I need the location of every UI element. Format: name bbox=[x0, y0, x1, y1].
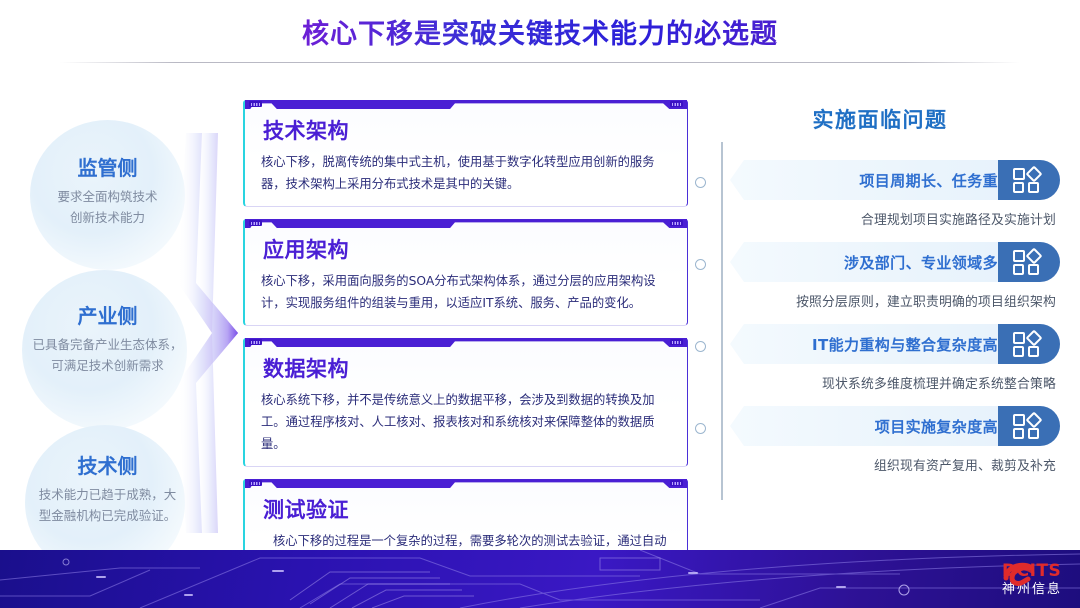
issues-timeline: 项目周期长、任务重 合理规划项目实施路径及实施计划 涉及部门、专业领域多 按照分… bbox=[700, 160, 1060, 474]
architecture-card-list: 技术架构 核心下移，脱离传统的集中式主机，使用基于数字化转型应用创新的服务器，技… bbox=[243, 100, 688, 598]
grid-diamond-icon bbox=[998, 160, 1060, 200]
card-tech-architecture[interactable]: 技术架构 核心下移，脱离传统的集中式主机，使用基于数字化转型应用创新的服务器，技… bbox=[243, 100, 688, 207]
timeline-item-2[interactable]: 涉及部门、专业领域多 按照分层原则，建立职责明确的项目组织架构 bbox=[722, 242, 1060, 310]
issue-label: IT能力重构与整合复杂度高 bbox=[812, 334, 998, 355]
card-heading: 数据架构 bbox=[263, 353, 671, 383]
issue-pill[interactable]: IT能力重构与整合复杂度高 bbox=[730, 324, 1060, 364]
timeline-item-1[interactable]: 项目周期长、任务重 合理规划项目实施路径及实施计划 bbox=[722, 160, 1060, 228]
card-top-bar bbox=[245, 479, 687, 488]
right-panel-title: 实施面临问题 bbox=[700, 104, 1060, 134]
timeline-dot-icon bbox=[695, 341, 706, 352]
issue-label: 项目实施复杂度高 bbox=[875, 416, 998, 437]
card-frame: 技术架构 核心下移，脱离传统的集中式主机，使用基于数字化转型应用创新的服务器，技… bbox=[243, 100, 688, 207]
page-title: 核心下移是突破关键技术能力的必选题 bbox=[302, 12, 778, 51]
card-notch-left-icon bbox=[249, 220, 262, 226]
card-frame: 应用架构 核心下移，采用面向服务的SOA分布式架构体系，通过分层的应用架构设计，… bbox=[243, 219, 688, 326]
company-logo: DCITS 神州信息 bbox=[1002, 558, 1062, 600]
card-notch-right-icon bbox=[670, 220, 683, 226]
grid-diamond-icon bbox=[998, 406, 1060, 446]
issue-label: 涉及部门、专业领域多 bbox=[844, 252, 998, 273]
timeline-item-4[interactable]: 项目实施复杂度高 组织现有资产复用、裁剪及补充 bbox=[722, 406, 1060, 474]
issue-subtext: 现状系统多维度梳理并确定系统整合策略 bbox=[722, 373, 1060, 392]
timeline-dot-icon bbox=[695, 259, 706, 270]
card-notch-left-icon bbox=[249, 480, 262, 486]
card-notch-left-icon bbox=[249, 101, 262, 107]
card-body: 核心下移，脱离传统的集中式主机，使用基于数字化转型应用创新的服务器，技术架构上采… bbox=[261, 151, 671, 195]
dcits-swirl-icon bbox=[1002, 558, 1036, 588]
card-heading: 应用架构 bbox=[263, 234, 671, 264]
issue-label: 项目周期长、任务重 bbox=[859, 170, 998, 191]
implementation-issues-panel: 实施面临问题 项目周期长、任务重 合理规划项目实施路径及实施计划 涉及部门、专业… bbox=[700, 104, 1060, 488]
grid-diamond-icon bbox=[998, 324, 1060, 364]
card-top-bar bbox=[245, 219, 687, 228]
title-divider bbox=[60, 62, 1020, 63]
card-body: 核心下移，采用面向服务的SOA分布式架构体系，通过分层的应用架构设计，实现服务组… bbox=[261, 270, 671, 314]
issue-pill[interactable]: 项目周期长、任务重 bbox=[730, 160, 1060, 200]
card-body: 核心系统下移，并不是传统意义上的数据平移，会涉及到数据的转换及加工。通过程序核对… bbox=[261, 389, 671, 455]
card-top-bar bbox=[245, 100, 687, 109]
timeline-dot-icon bbox=[695, 177, 706, 188]
card-frame: 数据架构 核心系统下移，并不是传统意义上的数据平移，会涉及到数据的转换及加工。通… bbox=[243, 338, 688, 467]
issue-subtext: 组织现有资产复用、裁剪及补充 bbox=[722, 455, 1060, 474]
card-notch-right-icon bbox=[670, 101, 683, 107]
circuit-pattern-decoration bbox=[0, 550, 1080, 608]
issue-subtext: 按照分层原则，建立职责明确的项目组织架构 bbox=[722, 291, 1060, 310]
issue-subtext: 合理规划项目实施路径及实施计划 bbox=[722, 209, 1060, 228]
card-data-architecture[interactable]: 数据架构 核心系统下移，并不是传统意义上的数据平移，会涉及到数据的转换及加工。通… bbox=[243, 338, 688, 467]
card-notch-right-icon bbox=[670, 480, 683, 486]
card-notch-left-icon bbox=[249, 339, 262, 345]
card-top-bar bbox=[245, 338, 687, 347]
card-heading: 技术架构 bbox=[263, 115, 671, 145]
card-heading: 测试验证 bbox=[263, 494, 671, 524]
issue-pill[interactable]: 项目实施复杂度高 bbox=[730, 406, 1060, 446]
slide-footer: DCITS 神州信息 bbox=[0, 550, 1080, 608]
grid-diamond-icon bbox=[998, 242, 1060, 282]
timeline-dot-icon bbox=[695, 423, 706, 434]
card-notch-right-icon bbox=[670, 339, 683, 345]
slide-header: 核心下移是突破关键技术能力的必选题 bbox=[0, 0, 1080, 62]
right-pointing-arrow-icon bbox=[172, 133, 244, 533]
card-application-architecture[interactable]: 应用架构 核心下移，采用面向服务的SOA分布式架构体系，通过分层的应用架构设计，… bbox=[243, 219, 688, 326]
issue-pill[interactable]: 涉及部门、专业领域多 bbox=[730, 242, 1060, 282]
timeline-item-3[interactable]: IT能力重构与整合复杂度高 现状系统多维度梳理并确定系统整合策略 bbox=[722, 324, 1060, 392]
